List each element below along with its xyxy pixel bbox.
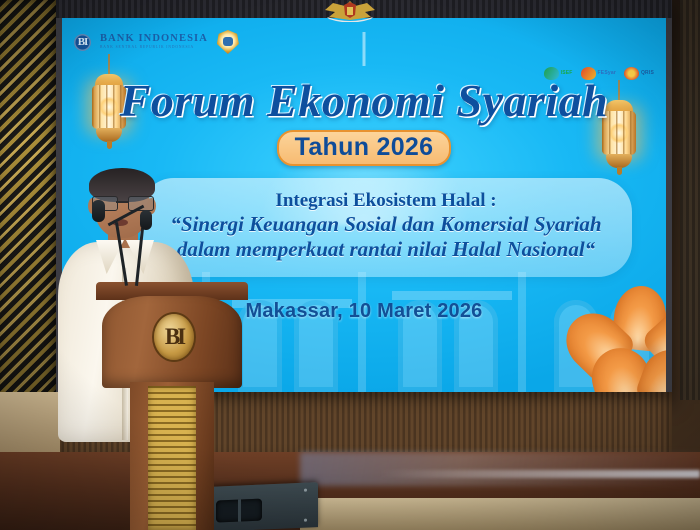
floor-reflection bbox=[300, 452, 700, 486]
bank-indonesia-mark: BI bbox=[74, 34, 91, 51]
provincial-government-seal bbox=[217, 30, 239, 54]
wooden-podium: BI bbox=[96, 282, 248, 530]
microphone-right bbox=[140, 210, 152, 230]
stage-front-ledge bbox=[300, 498, 700, 530]
stage-side-skirt bbox=[0, 392, 60, 454]
podium-emblem-monogram: BI bbox=[154, 314, 194, 360]
microphone-left bbox=[92, 200, 105, 222]
organizer-logo-group: BI BANK INDONESIA BANK SENTRAL REPUBLIK … bbox=[74, 30, 239, 54]
right-wall-slats bbox=[680, 0, 700, 400]
theme-plate: Integrasi Ekosistem Halal : “Sinergi Keu… bbox=[140, 178, 632, 277]
bank-indonesia-name: BANK INDONESIA bbox=[100, 34, 208, 45]
year-badge-label: Tahun 2026 bbox=[295, 133, 434, 161]
year-badge: Tahun 2026 bbox=[277, 130, 452, 166]
bi-monogram: BI bbox=[74, 34, 91, 51]
qris-logo-label: QRIS bbox=[641, 71, 654, 76]
bank-indonesia-tagline: BANK SENTRAL REPUBLIK INDONESIA bbox=[100, 46, 208, 50]
bank-indonesia-wordmark: BANK INDONESIA BANK SENTRAL REPUBLIK IND… bbox=[100, 34, 208, 50]
banner-title-group: Forum Ekonomi Syariah Tahun 2026 bbox=[62, 78, 666, 166]
stage-edge-highlight bbox=[380, 470, 700, 478]
lotus-flower-icon bbox=[562, 286, 666, 392]
photo-scene: BI BANK INDONESIA BANK SENTRAL REPUBLIK … bbox=[0, 0, 700, 530]
event-title: Forum Ekonomi Syariah bbox=[62, 78, 666, 124]
podium-bi-emblem: BI bbox=[154, 314, 194, 360]
garuda-pancasila-emblem bbox=[315, 0, 385, 22]
dome-spire-watermark bbox=[363, 32, 366, 66]
gold-woven-panel bbox=[148, 386, 196, 530]
theme-line-2: “Sinergi Keuangan Sosial dan Komersial S… bbox=[154, 212, 618, 238]
theme-line-1: Integrasi Ekosistem Halal : bbox=[154, 190, 618, 212]
theme-line-3: dalam memperkuat rantai nilai Halal Nasi… bbox=[154, 237, 618, 263]
